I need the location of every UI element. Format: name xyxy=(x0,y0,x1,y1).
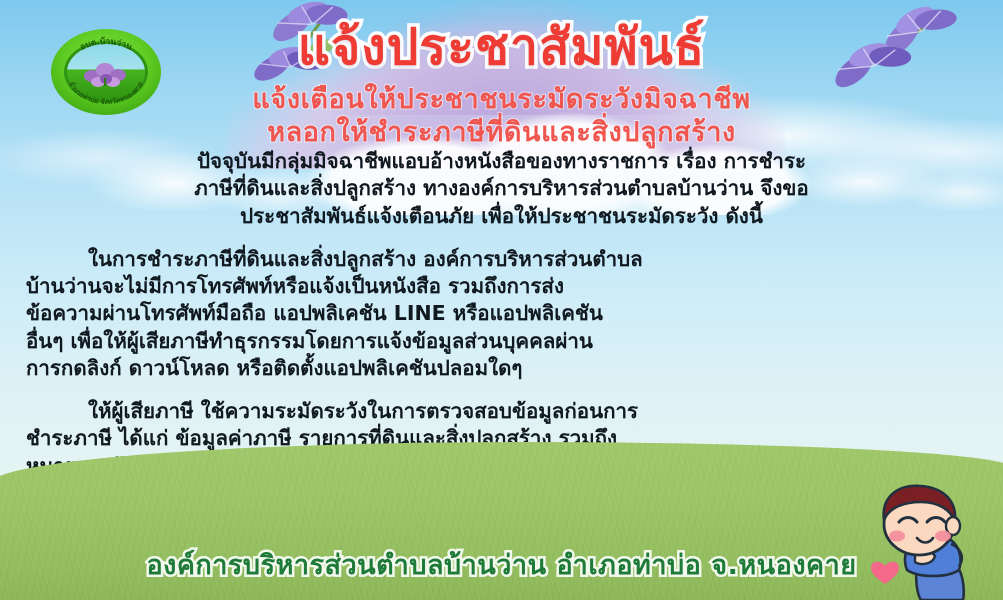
paragraph-1: ปัจจุบันมีกลุ่มมิจฉาชีพแอบอ้างหนังสือของ… xyxy=(26,148,977,230)
paragraph-2-line-3: ข้อความผ่านโทรศัพท์มือถือ แอปพลิเคชัน LI… xyxy=(26,300,977,327)
announcement-poster: อบต.บ้านว่าน อำเภอท่าบ่อ จังหวัดหนองคาย xyxy=(0,0,1003,600)
poster-headline: แจ้งประชาสัมพันธ์ xyxy=(0,22,1003,73)
paragraph-2-line-1-text: ในการชำระภาษีที่ดินและสิ่งปลูกสร้าง องค์… xyxy=(88,247,643,271)
paragraph-3-line-1: ให้ผู้เสียภาษี ใช้ความระมัดระวังในการตรว… xyxy=(26,398,977,425)
paragraph-1-line-2: ภาษีที่ดินและสิ่งปลูกสร้าง ทางองค์การบริ… xyxy=(26,175,977,202)
subtitle-line-2: หลอกให้ชำระภาษีที่ดินและสิ่งปลูกสร้าง xyxy=(0,117,1003,150)
paragraph-2-line-2: บ้านว่านจะไม่มีการโทรศัพท์หรือแจ้งเป็นหน… xyxy=(26,273,977,300)
poster-subtitle: แจ้งเตือนให้ประชาชนระมัดระวังมิจฉาชีพ หล… xyxy=(0,84,1003,150)
subtitle-line-1: แจ้งเตือนให้ประชาชนระมัดระวังมิจฉาชีพ xyxy=(0,84,1003,117)
paragraph-3-line-1-text: ให้ผู้เสียภาษี ใช้ความระมัดระวังในการตรว… xyxy=(88,399,638,423)
paragraph-1-line-3: ประชาสัมพันธ์แจ้งเตือนภัย เพื่อให้ประชาช… xyxy=(26,203,977,230)
paragraph-2-line-1: ในการชำระภาษีที่ดินและสิ่งปลูกสร้าง องค์… xyxy=(26,246,977,273)
paragraph-2-line-4: อื่นๆ เพื่อให้ผู้เสียภาษีทำธุรกรรมโดยการ… xyxy=(26,328,977,355)
poster-footer: องค์การบริหารส่วนตำบลบ้านว่าน อำเภอท่าบ่… xyxy=(0,543,1003,586)
paragraph-1-line-1: ปัจจุบันมีกลุ่มมิจฉาชีพแอบอ้างหนังสือของ… xyxy=(26,148,977,175)
paragraph-2: ในการชำระภาษีที่ดินและสิ่งปลูกสร้าง องค์… xyxy=(26,246,977,382)
paragraph-2-line-5: การกดลิงก์ ดาวน์โหลด หรือติดตั้งแอปพลิเค… xyxy=(26,355,977,382)
